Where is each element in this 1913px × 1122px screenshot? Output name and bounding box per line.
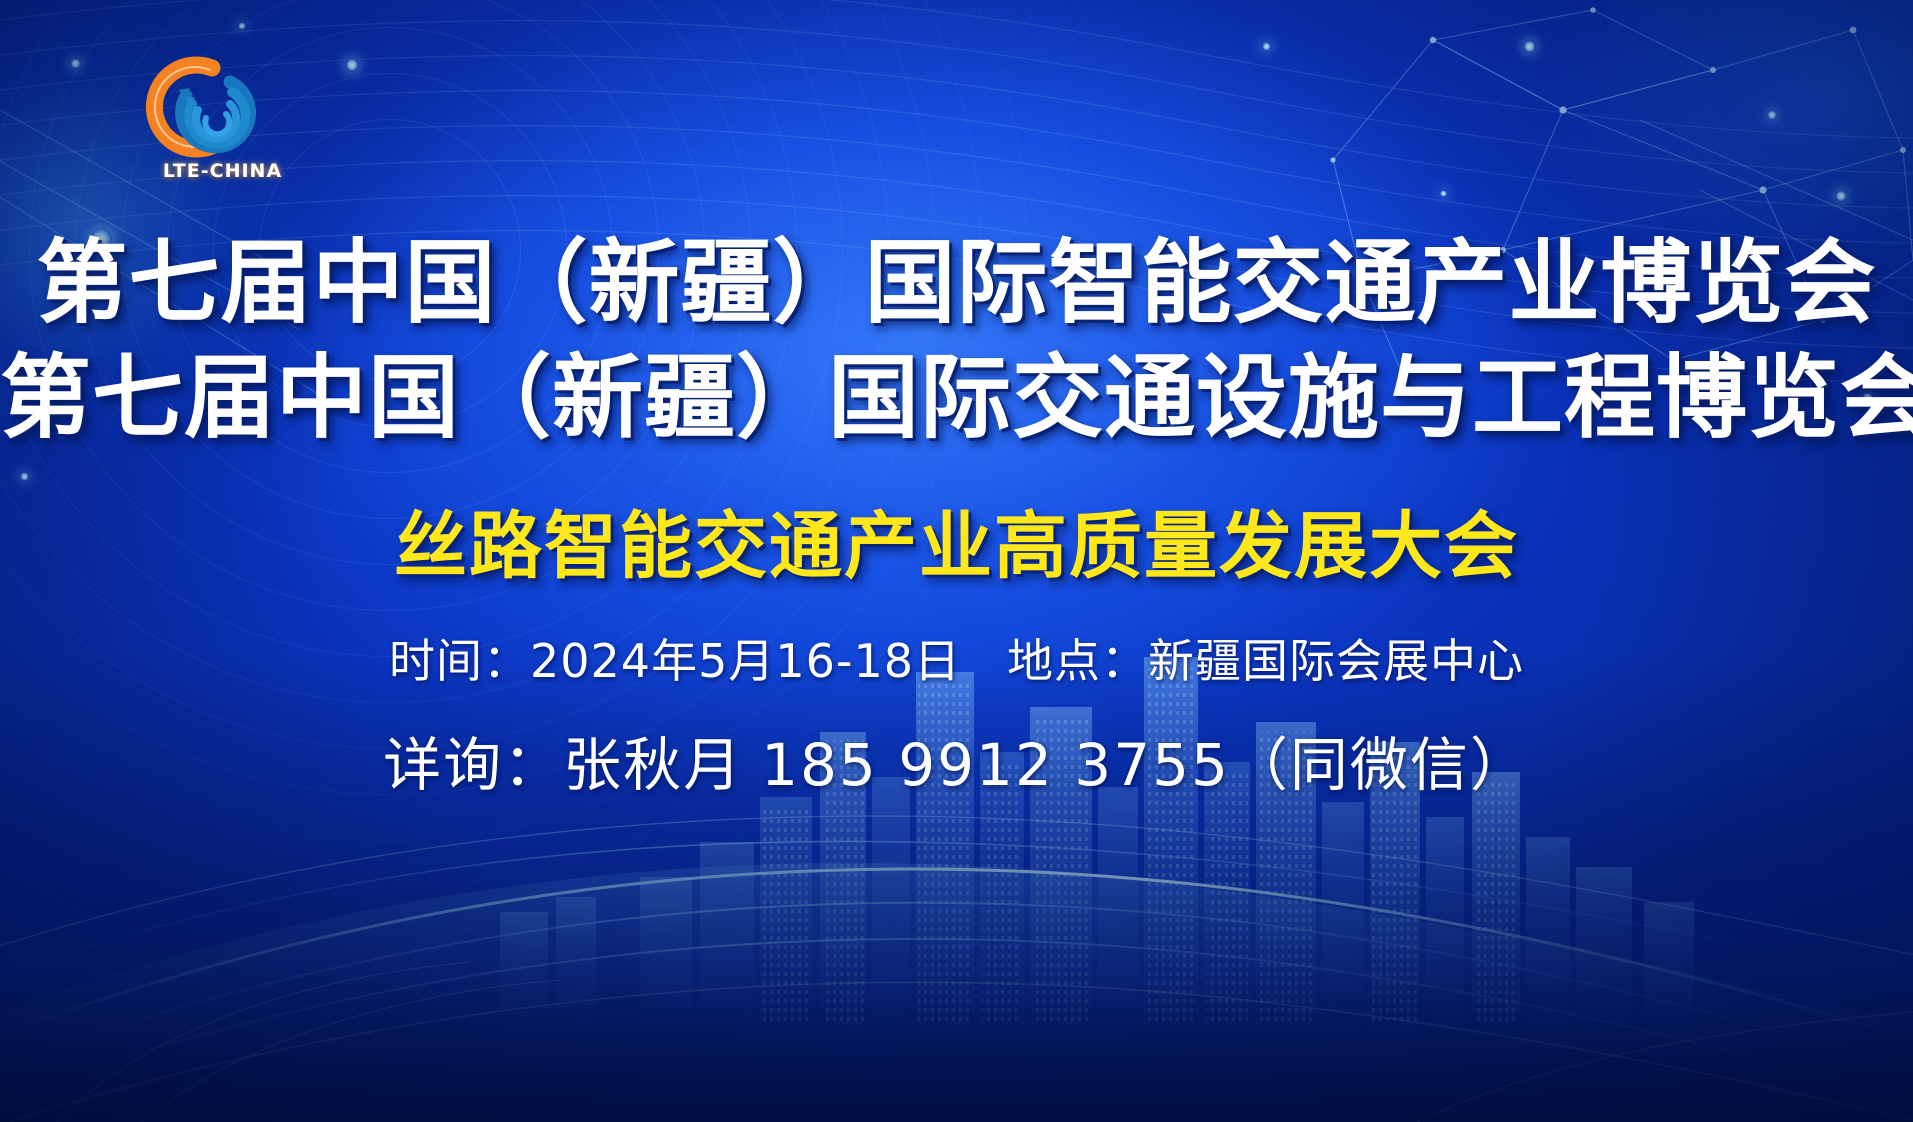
light-dot [345,58,359,72]
poster-canvas: LTE-CHINA 第七届中国（新疆）国际智能交通产业博览会 第七届中国（新疆）… [0,0,1913,1122]
light-dot [1523,40,1536,53]
contact-name: 张秋月 [563,731,743,799]
contact-phone[interactable]: 185 9912 3755 [761,731,1230,799]
venue-value: 新疆国际会展中心 [1148,634,1524,688]
time-value: 2024年5月16-18日 [530,634,961,688]
time-label: 时间： [389,634,530,688]
light-dot [20,472,29,481]
contact-line: 详询：张秋月185 9912 3755（同微信） [0,718,1913,802]
light-dot [1835,190,1847,202]
light-dot [70,58,81,69]
logo[interactable]: LTE-CHINA [124,52,314,192]
logo-wordmark: LTE-CHINA [130,160,315,182]
light-dot [1262,42,1271,51]
light-dot [238,22,246,30]
swirl-wave-icon [134,52,266,160]
title-line-2: 第七届中国（新疆）国际交通设施与工程博览会 [0,353,1913,444]
contact-label: 详询： [383,731,563,799]
light-dot [1767,110,1777,120]
light-dot [1440,190,1447,197]
venue-label: 地点： [1007,634,1148,688]
contact-note: （同微信） [1230,731,1530,799]
subtitle: 丝路智能交通产业高质量发展大会 [0,487,1913,593]
title-line-1: 第七届中国（新疆）国际智能交通产业博览会 [0,238,1913,329]
event-meta-line: 时间：2024年5月16-18日地点：新疆国际会展中心 [0,625,1913,691]
